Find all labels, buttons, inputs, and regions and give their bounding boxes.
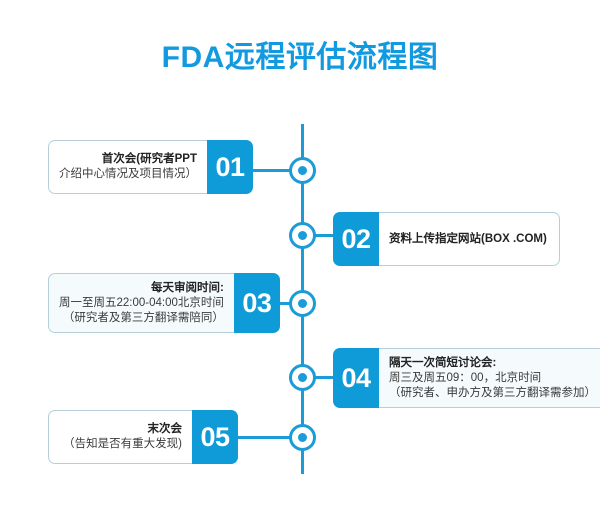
step-number-03: 03 xyxy=(234,273,280,333)
step-card-03: 每天审阅时间: 周一至周五22:00-04:00北京时间 （研究者及第三方翻译需… xyxy=(48,273,238,333)
step-card-04-line-2: 周三及周五09：00，北京时间 xyxy=(389,371,596,386)
step-card-01-line-1: 首次会(研究者PPT xyxy=(59,152,197,167)
connector-line-04 xyxy=(314,376,335,379)
step-card-02: 02 资料上传指定网站(BOX .COM) xyxy=(333,212,560,266)
step-card-05-line-1: 末次会 xyxy=(59,422,182,437)
timeline-node-01 xyxy=(289,157,316,184)
timeline-node-05 xyxy=(289,424,316,451)
page-title: FDA远程评估流程图 xyxy=(0,38,600,78)
timeline-node-02 xyxy=(289,222,316,249)
step-card-05: 末次会 （告知是否有重大发现) 05 xyxy=(48,410,238,464)
connector-line-02 xyxy=(314,234,335,237)
step-card-05-body: 末次会 （告知是否有重大发现) xyxy=(48,410,192,464)
step-card-03-line-2: 周一至周五22:00-04:00北京时间 xyxy=(59,296,224,311)
step-card-04: 04 隔天一次简短讨论会: 周三及周五09：00，北京时间 （研究者、申办方及第… xyxy=(333,348,560,408)
timeline-node-04 xyxy=(289,364,316,391)
step-card-01-line-2: 介绍中心情况及项目情况） xyxy=(59,167,197,182)
step-number-01: 01 xyxy=(207,140,253,194)
step-card-04-body: 隔天一次简短讨论会: 周三及周五09：00，北京时间 （研究者、申办方及第三方翻… xyxy=(379,348,600,408)
step-card-03-line-3: （研究者及第三方翻译需陪同） xyxy=(59,311,224,326)
step-number-04: 04 xyxy=(333,348,379,408)
step-card-02-body: 资料上传指定网站(BOX .COM) xyxy=(379,212,560,266)
step-number-02: 02 xyxy=(333,212,379,266)
step-card-03-body: 每天审阅时间: 周一至周五22:00-04:00北京时间 （研究者及第三方翻译需… xyxy=(48,273,234,333)
step-card-03-line-1: 每天审阅时间: xyxy=(59,281,224,296)
step-card-02-line-1: 资料上传指定网站(BOX .COM) xyxy=(389,232,549,247)
step-number-05: 05 xyxy=(192,410,238,464)
step-card-04-line-1: 隔天一次简短讨论会: xyxy=(389,356,596,371)
step-card-01-body: 首次会(研究者PPT 介绍中心情况及项目情况） xyxy=(48,140,207,194)
step-card-04-line-3: （研究者、申办方及第三方翻译需参加） xyxy=(389,386,596,401)
step-card-01: 首次会(研究者PPT 介绍中心情况及项目情况） 01 xyxy=(48,140,238,194)
step-card-05-line-2: （告知是否有重大发现) xyxy=(59,437,182,452)
timeline-node-03 xyxy=(289,290,316,317)
connector-line-05 xyxy=(238,436,291,439)
